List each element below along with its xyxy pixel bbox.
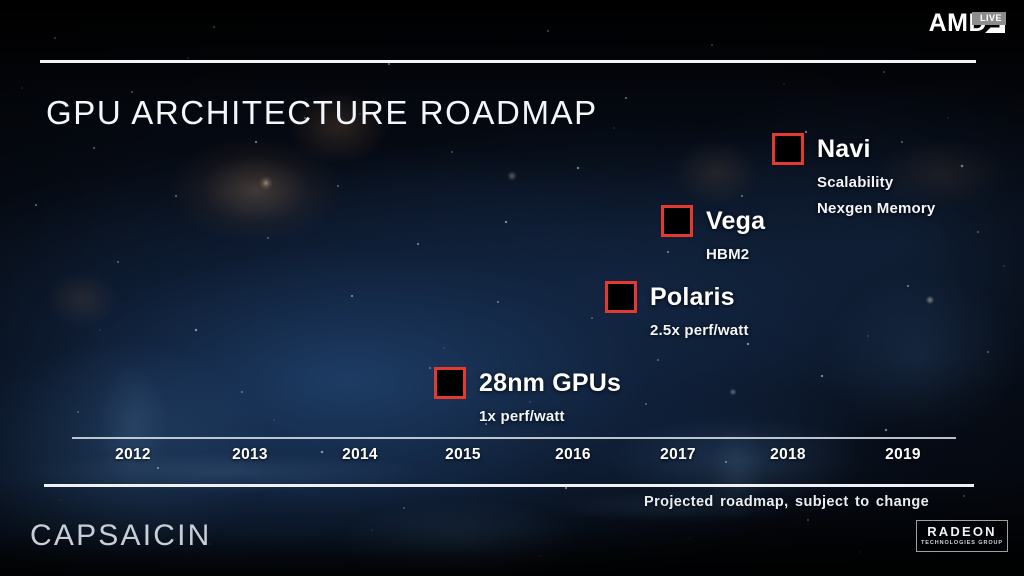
red-square-marker-vega[interactable] bbox=[661, 205, 693, 237]
node-subtitle-vega-1: HBM2 bbox=[706, 246, 765, 263]
x-tick-2014: 2014 bbox=[342, 446, 378, 464]
red-square-marker-navi[interactable] bbox=[772, 133, 804, 165]
node-subtitle-navi-2: Nexgen Memory bbox=[817, 200, 935, 217]
amd-logo: AMD LIVE bbox=[929, 8, 1006, 38]
node-title-28nm-gpus: 28nm GPUs bbox=[479, 369, 621, 398]
x-tick-2016: 2016 bbox=[555, 446, 591, 464]
roadmap-disclaimer: Projected roadmap, subject to change bbox=[644, 494, 929, 510]
roadmap-node-vega[interactable]: VegaHBM2 bbox=[661, 205, 765, 263]
x-tick-2017: 2017 bbox=[660, 446, 696, 464]
header-divider bbox=[40, 60, 976, 63]
roadmap-node-polaris[interactable]: Polaris2.5x perf/watt bbox=[605, 281, 749, 339]
amd-live-badge: LIVE bbox=[972, 12, 1006, 25]
radeon-technologies-group-logo: RADEON TECHNOLOGIES GROUP bbox=[916, 520, 1008, 552]
slide-canvas: AMD LIVE GPU ARCHITECTURE ROADMAP Perf/W… bbox=[0, 0, 1024, 576]
radeon-wordmark: RADEON bbox=[927, 525, 997, 538]
node-subtitle-navi-1: Scalability bbox=[817, 174, 935, 191]
node-header-28nm-gpus: 28nm GPUs bbox=[434, 367, 621, 399]
x-axis-line bbox=[72, 437, 956, 439]
x-tick-2012: 2012 bbox=[115, 446, 151, 464]
x-tick-2019: 2019 bbox=[885, 446, 921, 464]
capsaicin-logo: CAPSAICIN bbox=[30, 519, 212, 553]
y-axis-label: Perf/Watt bbox=[0, 246, 2, 286]
node-title-vega: Vega bbox=[706, 207, 765, 236]
red-square-marker-28nm-gpus[interactable] bbox=[434, 367, 466, 399]
page-title: GPU ARCHITECTURE ROADMAP bbox=[46, 94, 598, 132]
red-square-marker-polaris[interactable] bbox=[605, 281, 637, 313]
x-axis-tick-labels: 20122013201420152016201720182019 bbox=[72, 446, 956, 472]
roadmap-node-navi[interactable]: NaviScalabilityNexgen Memory bbox=[772, 133, 935, 217]
x-tick-2018: 2018 bbox=[770, 446, 806, 464]
radeon-tagline: TECHNOLOGIES GROUP bbox=[921, 541, 1003, 547]
x-tick-2015: 2015 bbox=[445, 446, 481, 464]
node-title-navi: Navi bbox=[817, 135, 871, 164]
footer-divider bbox=[44, 484, 974, 487]
node-title-polaris: Polaris bbox=[650, 283, 735, 312]
node-subtitle-28nm-gpus-1: 1x perf/watt bbox=[479, 408, 621, 425]
node-header-polaris: Polaris bbox=[605, 281, 749, 313]
x-tick-2013: 2013 bbox=[232, 446, 268, 464]
node-header-navi: Navi bbox=[772, 133, 935, 165]
node-header-vega: Vega bbox=[661, 205, 765, 237]
node-subtitle-polaris-1: 2.5x perf/watt bbox=[650, 322, 749, 339]
roadmap-node-28nm-gpus[interactable]: 28nm GPUs1x perf/watt bbox=[434, 367, 621, 425]
